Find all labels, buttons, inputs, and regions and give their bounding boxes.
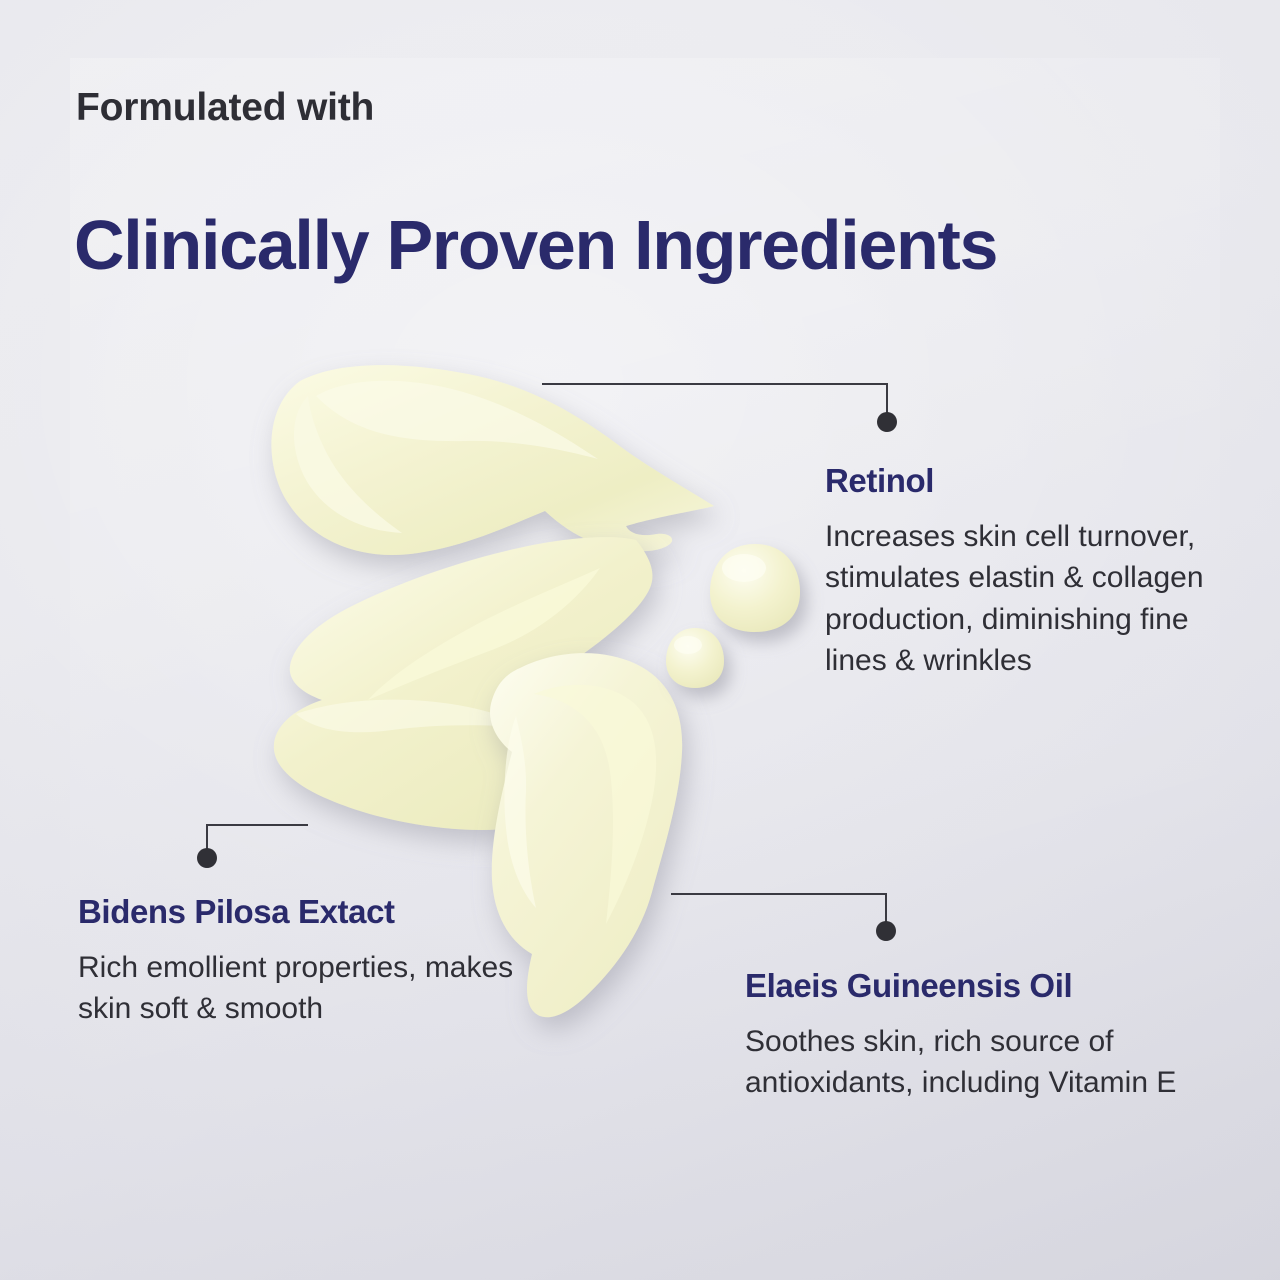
- eyebrow-heading: Formulated with: [76, 86, 374, 130]
- infographic-canvas: Formulated with Clinically Proven Ingred…: [0, 0, 1280, 1280]
- callout-elaeis-guineensis: Elaeis Guineensis Oil Soothes skin, rich…: [745, 967, 1185, 1104]
- cream-swatch-bottom: [490, 653, 682, 1017]
- connector-dot-retinol: [877, 412, 897, 432]
- cream-swatch-top: [271, 365, 714, 555]
- callout-title-bidens: Bidens Pilosa Extact: [78, 893, 518, 931]
- callout-title-retinol: Retinol: [825, 462, 1225, 500]
- callout-body-elaeis: Soothes skin, rich source of antioxidant…: [745, 1021, 1185, 1104]
- callout-body-bidens: Rich emollient properties, makes skin so…: [78, 947, 518, 1030]
- callout-body-retinol: Increases skin cell turnover, stimulates…: [825, 516, 1225, 682]
- connector-dot-bidens: [197, 848, 217, 868]
- connector-dot-elaeis: [876, 921, 896, 941]
- cream-swatch-middle: [274, 537, 653, 830]
- page-title: Clinically Proven Ingredients: [74, 205, 997, 285]
- callout-bidens-pilosa: Bidens Pilosa Extact Rich emollient prop…: [78, 893, 518, 1030]
- callout-title-elaeis: Elaeis Guineensis Oil: [745, 967, 1185, 1005]
- callout-retinol: Retinol Increases skin cell turnover, st…: [825, 462, 1225, 682]
- cream-droplet-large: [710, 544, 800, 632]
- cream-droplet-small: [666, 628, 724, 688]
